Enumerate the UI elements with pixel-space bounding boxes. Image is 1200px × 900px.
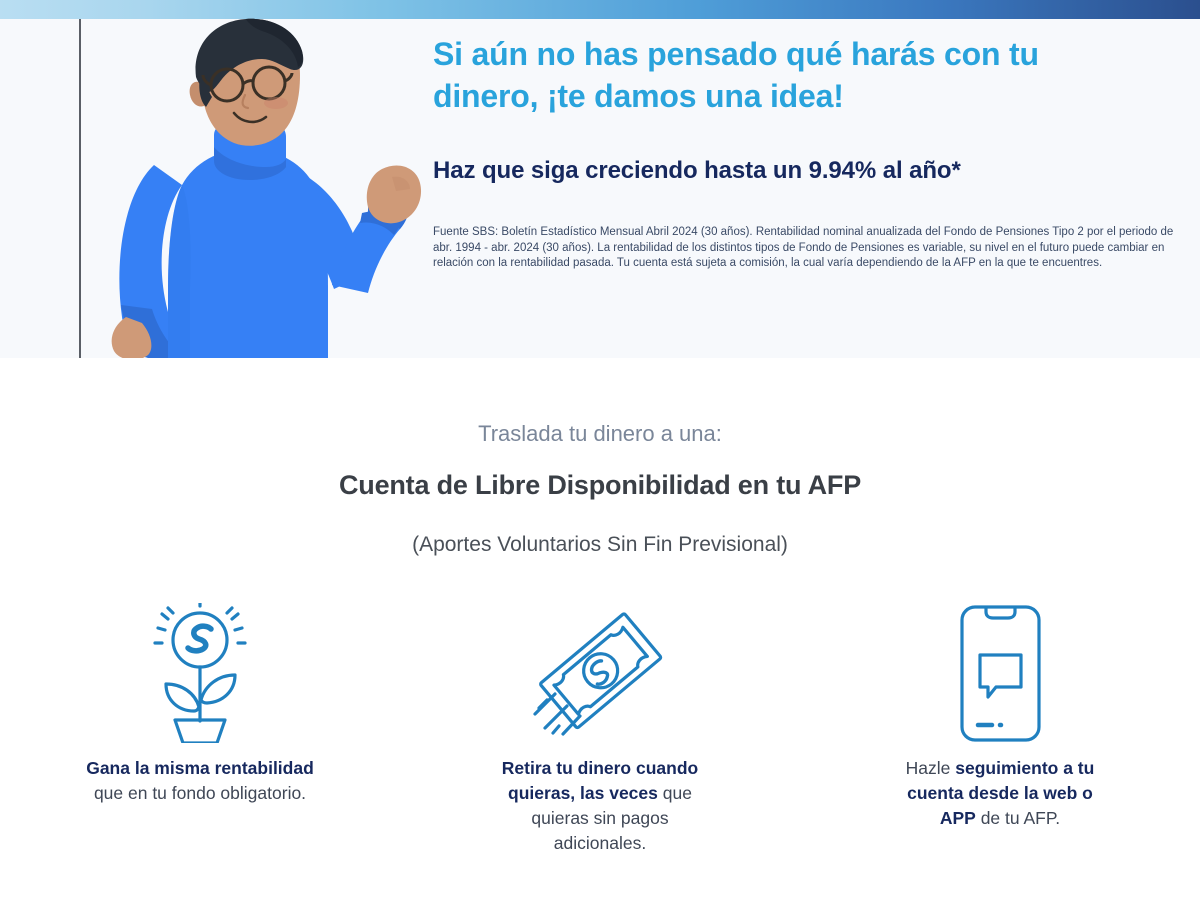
feature-caption-regular: de tu AFP.: [976, 808, 1060, 828]
feature-caption-regular: que en tu fondo obligatorio.: [94, 783, 306, 803]
hero-text-column: Si aún no has pensado qué harás con tu d…: [433, 33, 1178, 272]
section-title: Cuenta de Libre Disponibilidad en tu AFP: [0, 470, 1200, 501]
hero-disclaimer: Fuente SBS: Boletín Estadístico Mensual …: [433, 225, 1178, 272]
feature-caption: Gana la misma rentabilidad que en tu fon…: [80, 756, 320, 806]
features-row: Gana la misma rentabilidad que en tu fon…: [0, 598, 1200, 898]
feature-caption-lead: Hazle: [906, 758, 956, 778]
landing-page: Si aún no has pensado qué harás con tu d…: [0, 0, 1200, 900]
section-kicker: Traslada tu dinero a una:: [0, 421, 1200, 447]
hero-headline: Si aún no has pensado qué harás con tu d…: [433, 33, 1123, 117]
smartphone-chat-icon: [948, 598, 1053, 748]
banknote-icon: [525, 598, 675, 748]
feature-item-retiro: Retira tu dinero cuando quieras, las vec…: [400, 598, 800, 856]
feature-caption: Hazle seguimiento a tu cuenta desde la w…: [898, 756, 1103, 831]
feature-item-seguimiento: Hazle seguimiento a tu cuenta desde la w…: [800, 598, 1200, 831]
hero-subheadline: Haz que siga creciendo hasta un 9.94% al…: [433, 155, 1178, 187]
feature-caption-bold: Gana la misma rentabilidad: [86, 758, 314, 778]
transfer-section: Traslada tu dinero a una: Cuenta de Libr…: [0, 358, 1200, 900]
money-plant-icon: [135, 598, 265, 748]
hero-section: Si aún no has pensado qué harás con tu d…: [0, 19, 1200, 358]
section-subtitle: (Aportes Voluntarios Sin Fin Previsional…: [0, 533, 1200, 557]
feature-caption: Retira tu dinero cuando quieras, las vec…: [500, 756, 700, 856]
hero-illustration: [96, 17, 426, 358]
feature-item-rentabilidad: Gana la misma rentabilidad que en tu fon…: [0, 598, 400, 806]
hero-vertical-divider: [79, 19, 81, 358]
